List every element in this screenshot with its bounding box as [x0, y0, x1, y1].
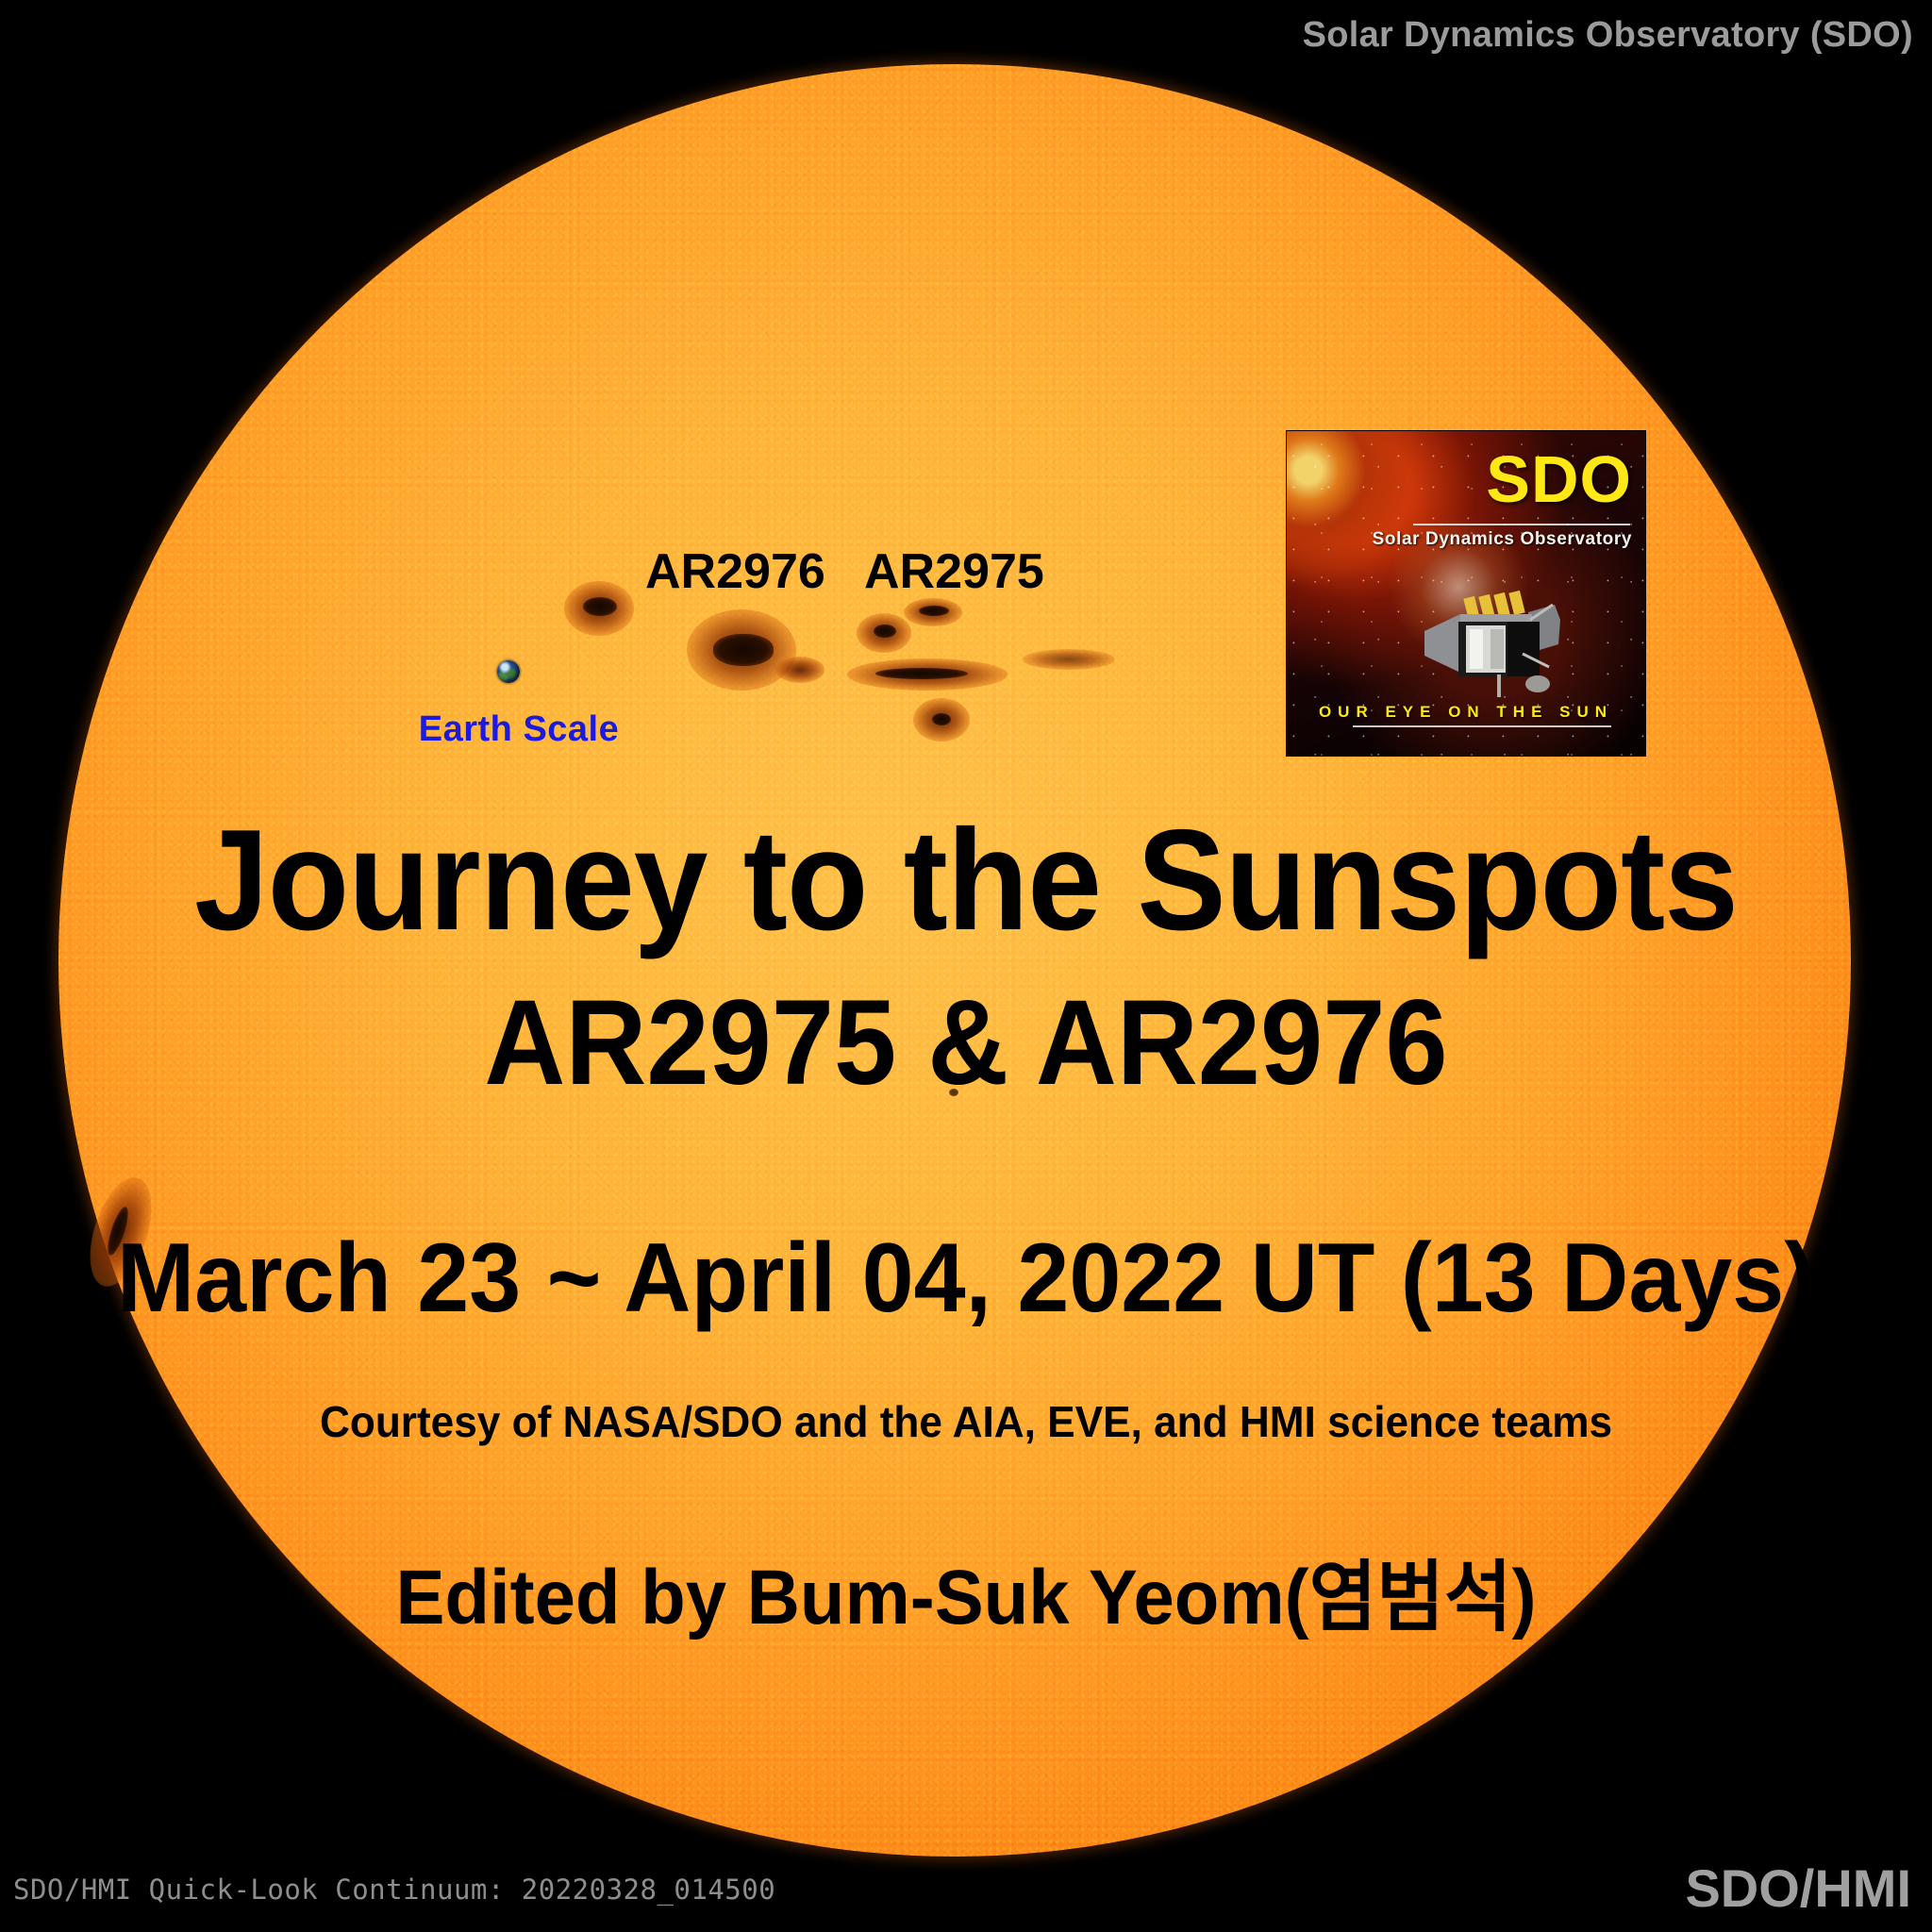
earth-scale-globe-icon — [497, 660, 520, 683]
badge-title: SDO — [1486, 448, 1632, 511]
quicklook-caption-text: SDO/HMI Quick-Look Continuum: 20220328_0… — [13, 1874, 775, 1906]
editor-credit-text: Edited by Bum-Suk Yeom(염범석) — [48, 1534, 1884, 1646]
badge-rule-bottom — [1353, 725, 1611, 727]
date-range-text: March 23 ~ April 04, 2022 UT (13 Days) — [48, 1223, 1884, 1335]
sdo-mission-badge: SDO Solar Dynamics Observatory OUR EYE O… — [1286, 430, 1646, 757]
badge-subtitle: Solar Dynamics Observatory — [1373, 529, 1632, 550]
badge-rule-top — [1413, 524, 1630, 525]
badge-tagline: OUR EYE ON THE SUN — [1287, 703, 1645, 722]
page-title: Journey to the Sunspots — [68, 798, 1865, 963]
spacecraft-icon — [1417, 563, 1577, 714]
observatory-header-text: Solar Dynamics Observatory (SDO) — [1303, 15, 1913, 56]
earth-scale-label: Earth Scale — [415, 709, 623, 750]
page-subtitle: AR2975 & AR2976 — [68, 974, 1865, 1112]
ar-label-ar2975: AR2975 — [864, 543, 1044, 600]
ar-label-ar2976: AR2976 — [645, 543, 825, 600]
instrument-footer-text: SDO/HMI — [1685, 1857, 1911, 1919]
solar-image-poster: Earth Scale AR2976 AR2975 — [0, 0, 1932, 1932]
courtesy-text: Courtesy of NASA/SDO and the AIA, EVE, a… — [39, 1396, 1893, 1447]
